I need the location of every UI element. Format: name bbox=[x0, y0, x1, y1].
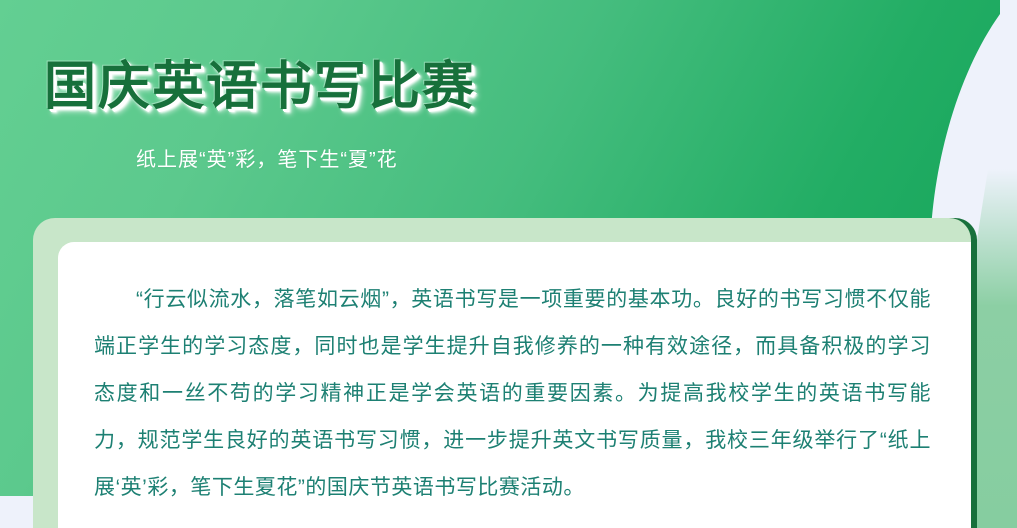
article-paragraph: “行云似流水，落笔如云烟”，英语书写是一项重要的基本功。良好的书写习惯不仅能端正… bbox=[94, 276, 931, 511]
content-card-body: “行云似流水，落笔如云烟”，英语书写是一项重要的基本功。良好的书写习惯不仅能端正… bbox=[58, 242, 971, 511]
content-card-inner: “行云似流水，落笔如云烟”，英语书写是一项重要的基本功。良好的书写习惯不仅能端正… bbox=[58, 242, 971, 528]
content-card-outer: “行云似流水，落笔如云烟”，英语书写是一项重要的基本功。良好的书写习惯不仅能端正… bbox=[33, 218, 971, 528]
poster-page: 国庆英语书写比赛 纸上展“英”彩，笔下生“夏”花 “行云似流水，落笔如云烟”，英… bbox=[0, 0, 1017, 528]
